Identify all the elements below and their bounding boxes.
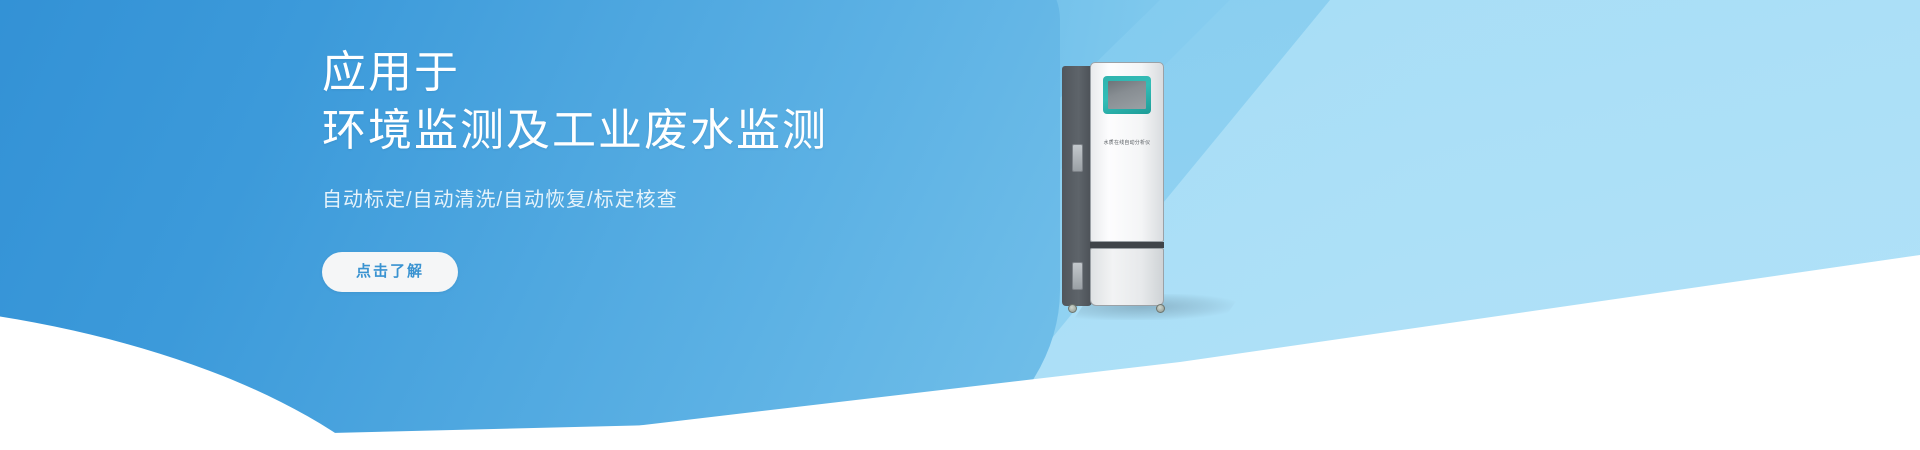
product-display-screen	[1108, 81, 1146, 109]
headline-line-1: 应用于	[322, 48, 460, 97]
product-caster-left	[1068, 304, 1077, 313]
product-side-panel	[1062, 66, 1092, 306]
product-upper-door: 水质在线自动分析仪	[1090, 62, 1164, 242]
product-lower-door	[1090, 248, 1164, 306]
banner-subtitle: 自动标定/自动清洗/自动恢复/标定核查	[322, 186, 1042, 214]
page-title: 应用于 环境监测及工业废水监测	[322, 44, 1042, 160]
banner-copy: 应用于 环境监测及工业废水监测 自动标定/自动清洗/自动恢复/标定核查 点击了解	[322, 44, 1042, 292]
learn-more-button[interactable]: 点击了解	[322, 252, 458, 292]
product-upper-handle-icon	[1072, 144, 1083, 172]
product-lower-handle-icon	[1072, 262, 1083, 290]
product-caster-right	[1156, 304, 1165, 313]
hero-banner: 应用于 环境监测及工业废水监测 自动标定/自动清洗/自动恢复/标定核查 点击了解…	[0, 0, 1920, 450]
product-image: 水质在线自动分析仪	[1062, 62, 1192, 312]
product-display-bezel	[1103, 76, 1151, 114]
product-label: 水质在线自动分析仪	[1092, 139, 1163, 146]
headline-line-2: 环境监测及工业废水监测	[322, 102, 1042, 160]
